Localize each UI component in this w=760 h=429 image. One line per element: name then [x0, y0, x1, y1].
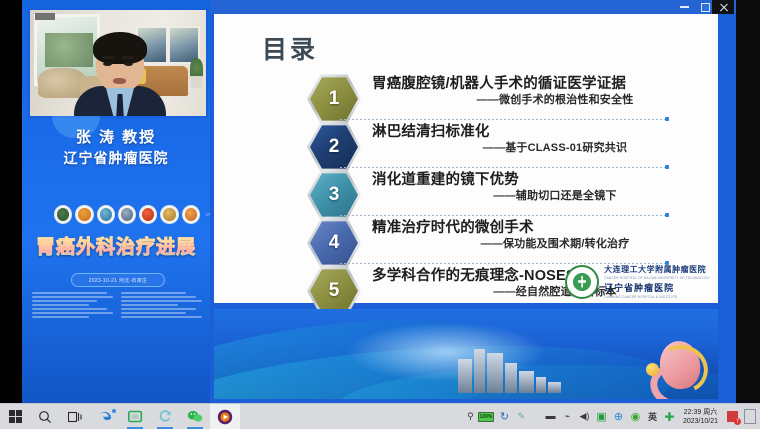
- antivirus-icon[interactable]: ✚: [663, 410, 676, 423]
- sponsor-logo-icon: [139, 205, 157, 224]
- minimize-button[interactable]: [679, 1, 690, 12]
- event-date-badge: 2023-10-21 河北·石家庄: [71, 273, 165, 287]
- toc-divider: [340, 119, 665, 120]
- hospital-name-line2-en: LIAONING CANCER HOSPITAL & INSTITUTE: [604, 295, 710, 299]
- start-button[interactable]: [0, 404, 30, 429]
- hospital-emblem-icon: [565, 265, 599, 299]
- system-tray: ⚲ 100% ↻ ✎ ▬ ⌁ ◀) ▣ ⊕ ◉ 英 ✚ 22:39 周六 202…: [464, 404, 758, 429]
- edge-notification-badge: [112, 409, 116, 413]
- city-skyline-graphic: [454, 345, 574, 393]
- sponsor-logo-icon: [182, 205, 200, 224]
- network-icon[interactable]: ⌁: [561, 410, 574, 423]
- windows-taskbar: ⚲ 100% ↻ ✎ ▬ ⌁ ◀) ▣ ⊕ ◉ 英 ✚ 22:39 周六 202…: [0, 403, 760, 429]
- list-item[interactable]: 2 淋巴结清扫标准化 ——基于CLASS-01研究共识: [310, 124, 710, 172]
- sync-app-icon[interactable]: [150, 404, 180, 429]
- desktop-left-letterbox: [0, 0, 22, 403]
- sponsor-logo-icon: [54, 205, 72, 224]
- slide-bottom-banner: [214, 309, 718, 399]
- toc-item-title: 胃癌腹腔镜/机器人手术的循证医学证据: [372, 76, 710, 93]
- hospital-logo: 大连理工大学附属肿瘤医院 CANCER HOSPITAL OF DALIAN U…: [565, 264, 710, 299]
- globe-icon[interactable]: ⊕: [612, 410, 625, 423]
- toc-item-subtitle: ——保功能及围术期/转化治疗: [372, 237, 710, 251]
- power-plug-icon: ⚲: [464, 410, 477, 423]
- sponsor-fine-print: [32, 292, 202, 320]
- show-desktop-button[interactable]: [744, 409, 756, 424]
- edge-browser-icon[interactable]: [90, 404, 120, 429]
- taskbar-clock[interactable]: 22:39 周六 2023/10/21: [680, 408, 721, 426]
- page-title: 目录: [262, 30, 318, 66]
- sponsor-logo-icon: [97, 205, 115, 224]
- search-icon[interactable]: [30, 404, 60, 429]
- toc-item-title: 淋巴结清扫标准化: [372, 124, 710, 141]
- toc-divider: [340, 215, 665, 216]
- toc-item-subtitle: ——基于CLASS-01研究共识: [372, 141, 710, 155]
- battery-status[interactable]: ⚲ 100%: [464, 410, 494, 423]
- video-name-tag: [35, 13, 55, 20]
- list-item[interactable]: 3 消化道重建的镜下优势 ——辅助切口还是全镜下: [310, 172, 710, 220]
- slide-canvas[interactable]: 目录 1 胃癌腹腔镜/机器人手术的循证医学证据 ——微创手术的根治性和安全性 2…: [214, 14, 718, 303]
- hospital-name-line1: 大连理工大学附属肿瘤医院: [604, 264, 710, 275]
- toc-item-title: 精准治疗时代的微创手术: [372, 220, 710, 237]
- battery-tray-icon[interactable]: ▣: [595, 410, 608, 423]
- ime-status-icon[interactable]: ◉: [629, 410, 642, 423]
- toc-divider-end-dot: [665, 213, 669, 217]
- wechat-icon[interactable]: [180, 404, 210, 429]
- refresh-icon[interactable]: ↻: [498, 410, 511, 423]
- battery-percent: 100%: [480, 414, 492, 420]
- plant-icon: [190, 58, 203, 78]
- clock-time: 22:39 周六: [684, 408, 717, 417]
- media-player-icon[interactable]: [210, 404, 240, 429]
- notification-count: 7: [734, 418, 741, 425]
- taskbar-app-buttons: [0, 404, 240, 429]
- toc-item-subtitle: ——辅助切口还是全镜下: [372, 189, 710, 203]
- battery-icon: 100%: [478, 412, 494, 422]
- restore-button[interactable]: [699, 1, 710, 12]
- sponsor-logo-icon: [118, 205, 136, 224]
- toc-item-subtitle: ——微创手术的根治性和安全性: [372, 93, 710, 107]
- keyboard-icon[interactable]: ▬: [544, 410, 557, 423]
- clock-date: 2023/10/21: [683, 417, 718, 426]
- sponsor-logo-icon: [75, 205, 93, 224]
- sponsor-logo-row: ▱▰: [54, 204, 210, 224]
- close-icon: [718, 2, 729, 13]
- ime-language-icon[interactable]: 英: [646, 410, 659, 423]
- stomach-mascot-icon: [646, 335, 708, 397]
- volume-icon[interactable]: ◀): [578, 410, 591, 423]
- list-item[interactable]: 4 精准治疗时代的微创手术 ——保功能及围术期/转化治疗: [310, 220, 710, 268]
- plant-pot: [191, 76, 202, 88]
- task-view-icon[interactable]: [60, 404, 90, 429]
- toc-divider-end-dot: [665, 117, 669, 121]
- presenter-name: 张 涛 教授: [22, 126, 210, 147]
- close-button[interactable]: [712, 0, 734, 14]
- stylus-icon[interactable]: ✎: [515, 410, 528, 423]
- sponsor-wordmark: ▱▰: [206, 211, 210, 218]
- presenter-organization: 辽宁省肿瘤医院: [22, 148, 210, 168]
- window-controls: [679, 1, 710, 12]
- presenter-figure: [74, 34, 166, 116]
- toc-divider-end-dot: [665, 165, 669, 169]
- toc-item-title: 消化道重建的镜下优势: [372, 172, 710, 189]
- hospital-name-line1-en: CANCER HOSPITAL OF DALIAN UNIVERSITY OF …: [604, 276, 710, 280]
- presenter-video[interactable]: [28, 8, 208, 118]
- sponsor-logo-icon: [160, 205, 178, 224]
- presenter-panel: 张 涛 教授 辽宁省肿瘤医院 ▱▰ 胃癌外科治疗进展 2023-10-21 河北…: [22, 0, 210, 403]
- list-item[interactable]: 1 胃癌腹腔镜/机器人手术的循证医学证据 ——微创手术的根治性和安全性: [310, 76, 710, 124]
- desktop-right-letterbox: [736, 0, 760, 403]
- notification-center[interactable]: 7: [725, 409, 740, 424]
- screen-recorder-icon[interactable]: [120, 404, 150, 429]
- event-topic-title: 胃癌外科治疗进展: [22, 232, 210, 259]
- hospital-name-line2: 辽宁省肿瘤医院: [604, 281, 710, 294]
- toc-divider: [340, 167, 665, 168]
